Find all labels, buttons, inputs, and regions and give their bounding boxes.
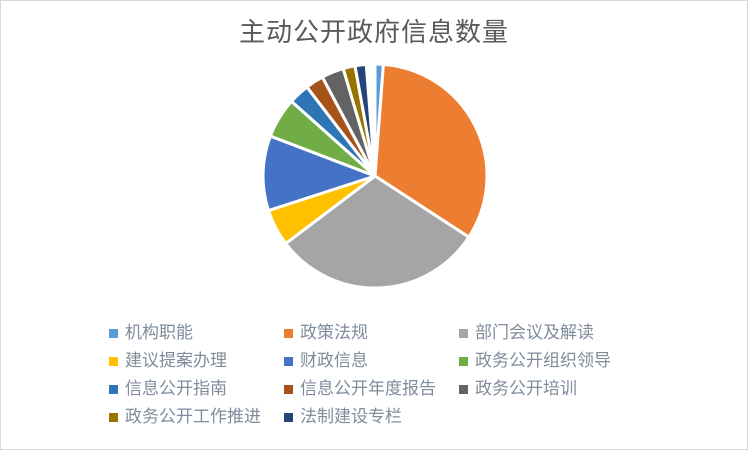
legend-swatch-icon: [109, 329, 118, 338]
legend-item-label: 政务公开工作推进: [125, 407, 261, 427]
legend-item[interactable]: 财政信息: [284, 347, 459, 375]
legend-swatch-icon: [109, 413, 118, 422]
legend-item-label: 财政信息: [300, 351, 368, 371]
legend-item[interactable]: 信息公开年度报告: [284, 375, 459, 403]
legend-swatch-icon: [284, 385, 293, 394]
legend-swatch-icon: [109, 385, 118, 394]
legend-swatch-icon: [284, 329, 293, 338]
pie-slice-group: [263, 64, 487, 288]
legend-item-label: 信息公开指南: [125, 379, 227, 399]
legend-item-label: 政务公开培训: [475, 379, 577, 399]
legend-item[interactable]: 部门会议及解读: [459, 319, 669, 347]
legend-item[interactable]: 信息公开指南: [109, 375, 284, 403]
legend-item-label: 政策法规: [300, 323, 368, 343]
legend-item[interactable]: 政策法规: [284, 319, 459, 347]
legend-item-label: 机构职能: [125, 323, 193, 343]
legend-item-label: 建议提案办理: [125, 351, 227, 371]
legend-item[interactable]: 法制建设专栏: [284, 403, 459, 431]
legend-swatch-icon: [459, 357, 468, 366]
legend-swatch-icon: [284, 413, 293, 422]
legend-item-label: 政务公开组织领导: [475, 351, 611, 371]
chart-title: 主动公开政府信息数量: [1, 15, 747, 49]
legend-item[interactable]: 政务公开工作推进: [109, 403, 284, 431]
legend-item-label: 信息公开年度报告: [300, 379, 436, 399]
legend-swatch-icon: [459, 329, 468, 338]
legend-item[interactable]: 政务公开组织领导: [459, 347, 669, 375]
chart-legend: 机构职能政策法规部门会议及解读建议提案办理财政信息政务公开组织领导信息公开指南信…: [109, 319, 669, 431]
legend-item[interactable]: 政务公开培训: [459, 375, 669, 403]
legend-item-label: 法制建设专栏: [300, 407, 402, 427]
legend-item[interactable]: 机构职能: [109, 319, 284, 347]
legend-swatch-icon: [109, 357, 118, 366]
pie-chart: [260, 61, 490, 291]
legend-swatch-icon: [284, 357, 293, 366]
pie-plot-area: [1, 61, 749, 311]
chart-container: 主动公开政府信息数量 机构职能政策法规部门会议及解读建议提案办理财政信息政务公开…: [0, 0, 748, 450]
legend-item-label: 部门会议及解读: [475, 323, 594, 343]
legend-swatch-icon: [459, 385, 468, 394]
legend-item[interactable]: 建议提案办理: [109, 347, 284, 375]
